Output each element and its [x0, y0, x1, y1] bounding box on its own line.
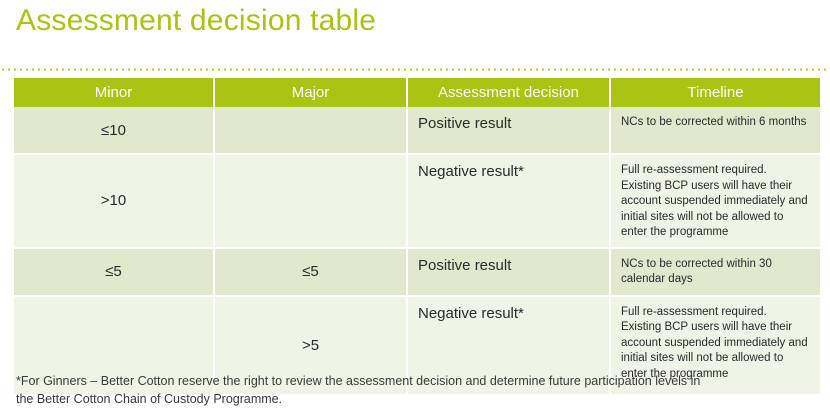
cell-major: ≤5	[215, 249, 408, 297]
cell-decision: Positive result	[408, 249, 611, 297]
column-header-minor: Minor	[14, 78, 215, 107]
cell-timeline: Full re-assessment required. Existing BC…	[611, 155, 820, 249]
table-footnote: *For Ginners – Better Cotton reserve the…	[16, 372, 716, 408]
table-row: ≤5 ≤5 Positive result NCs to be correcte…	[14, 249, 820, 297]
cell-timeline: NCs to be corrected within 30 calendar d…	[611, 249, 820, 297]
cell-major	[215, 155, 408, 249]
column-header-timeline: Timeline	[611, 78, 820, 107]
cell-decision: Positive result	[408, 107, 611, 155]
column-header-decision: Assessment decision	[408, 78, 611, 107]
table-row: >10 Negative result* Full re-assessment …	[14, 155, 820, 249]
table-header: Minor Major Assessment decision Timeline	[14, 78, 820, 107]
assessment-decision-table: Minor Major Assessment decision Timeline…	[14, 78, 820, 396]
table-header-row: Minor Major Assessment decision Timeline	[14, 78, 820, 107]
table-body: ≤10 Positive result NCs to be corrected …	[14, 107, 820, 396]
cell-decision: Negative result*	[408, 155, 611, 249]
cell-minor: >10	[14, 155, 215, 249]
cell-minor: ≤10	[14, 107, 215, 155]
cell-minor: ≤5	[14, 249, 215, 297]
table-row: ≤10 Positive result NCs to be corrected …	[14, 107, 820, 155]
dotted-divider	[0, 68, 830, 71]
column-header-major: Major	[215, 78, 408, 107]
cell-major	[215, 107, 408, 155]
cell-timeline: NCs to be corrected within 6 months	[611, 107, 820, 155]
page-title: Assessment decision table	[16, 4, 376, 38]
